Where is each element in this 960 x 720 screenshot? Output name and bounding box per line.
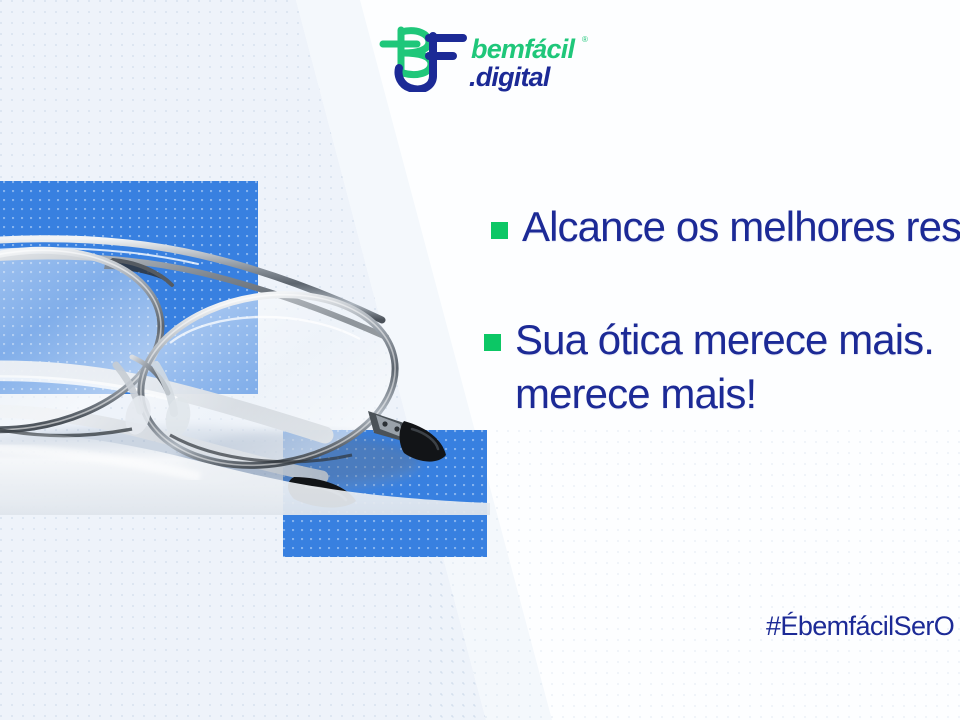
marketing-banner: bemfácil ® .digital Alcance os melhores … [0, 0, 960, 720]
headline-text-2-line-1: Sua ótica merece mais. [515, 313, 934, 367]
background-dot-pattern-secondary [430, 430, 960, 720]
eyeglasses-photo [0, 215, 490, 515]
logo-brand-suffix: .digital [469, 62, 551, 92]
headline-text-group-2: Sua ótica merece mais. merece mais! [515, 313, 934, 421]
headline-text-2-line-2: merece mais! [515, 367, 934, 421]
headline-item-2: Sua ótica merece mais. merece mais! [484, 313, 934, 421]
logo-trademark-symbol: ® [582, 35, 588, 44]
brand-logo: bemfácil ® .digital [377, 24, 589, 92]
logo-brand-name: bemfácil [471, 34, 575, 64]
bullet-square-icon [491, 222, 508, 239]
headline-item-1: Alcance os melhores res [491, 200, 960, 254]
headline-text-1: Alcance os melhores res [522, 200, 960, 254]
bullet-square-icon [484, 334, 501, 351]
logo-monogram-b [383, 30, 431, 75]
campaign-hashtag: #ÉbemfácilSerO [766, 611, 954, 642]
